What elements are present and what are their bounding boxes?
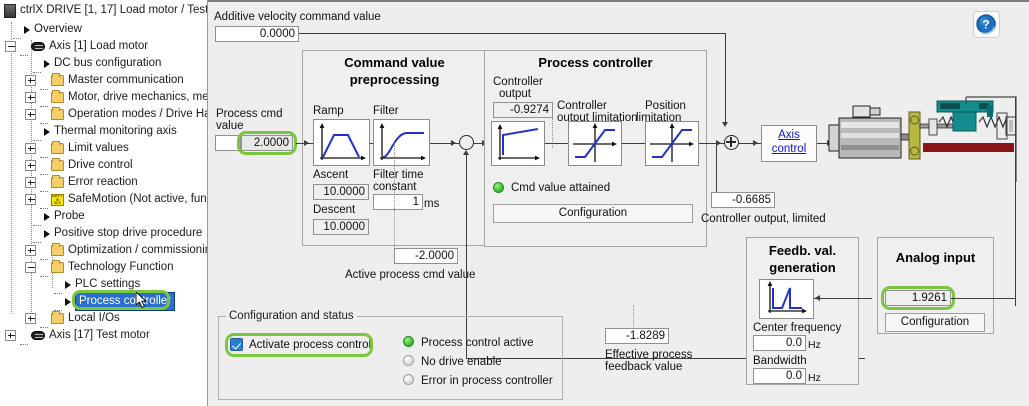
filter-curve-icon	[374, 120, 429, 165]
filter-time-label-1: Filter time	[373, 169, 423, 182]
expand-icon[interactable]	[25, 313, 36, 324]
expand-icon[interactable]	[25, 75, 36, 86]
position-limitation-block	[645, 121, 699, 166]
svg-text:?: ?	[982, 18, 989, 32]
ascent-field[interactable]: 10.0000	[313, 184, 369, 200]
filter-time-unit: ms	[424, 198, 439, 211]
axis-control-link-2[interactable]: control	[761, 143, 817, 156]
axis-control-link-1[interactable]: Axis	[761, 129, 817, 142]
sidebar-item-label: Overview	[34, 21, 82, 38]
sidebar-item-master-comm[interactable]: Master communication	[25, 72, 184, 89]
arrow-icon	[65, 298, 71, 306]
sidebar-item-axis17[interactable]: Axis [17] Test motor	[5, 327, 150, 344]
arrow-icon	[44, 213, 50, 221]
sidebar-item-motor-mechanics[interactable]: Motor, drive mechanics, measur	[25, 89, 208, 106]
active-cmd-field[interactable]: -2.0000	[394, 248, 458, 264]
folder-icon	[51, 109, 64, 120]
sidebar-item-label: PLC settings	[75, 276, 140, 293]
configuration-status-legend: Configuration and status	[226, 310, 357, 322]
ramp-curve-icon	[314, 120, 369, 165]
saturation-curve-icon	[569, 122, 621, 165]
sidebar-item-axis1[interactable]: Axis [1] Load motor	[5, 38, 148, 55]
status-label-no-drive-enable: No drive enable	[421, 356, 502, 369]
help-icon: ?	[975, 13, 998, 36]
drive-icon	[31, 42, 45, 51]
folder-icon	[51, 245, 64, 256]
tap-ctrl-out-limited	[716, 143, 717, 193]
ascent-label: Ascent	[313, 169, 348, 182]
sidebar-item-label: Limit values	[68, 140, 129, 157]
arrow-icon	[44, 230, 50, 238]
expand-icon[interactable]	[25, 177, 36, 188]
descent-label: Descent	[313, 204, 355, 217]
folder-icon	[51, 75, 64, 86]
folder-icon	[51, 262, 64, 273]
expand-icon[interactable]	[25, 160, 36, 171]
arrow-icon	[65, 281, 71, 289]
sidebar-item-technology-function[interactable]: Technology Function	[25, 259, 173, 276]
sidebar-item-local-ios[interactable]: Local I/Os	[25, 310, 120, 327]
col-limit-label-1: Controller	[557, 100, 607, 113]
status-led-no-drive-enable	[403, 355, 414, 366]
sidebar-item-label: Error reaction	[68, 174, 138, 191]
sidebar-item-label: Technology Function	[68, 259, 173, 276]
process-cmd-label-2: value	[216, 120, 244, 133]
collapse-icon[interactable]	[25, 262, 36, 273]
process-cmd-prefix-field[interactable]	[215, 135, 241, 151]
collapse-icon[interactable]	[5, 41, 16, 52]
folder-icon	[51, 143, 64, 154]
controller-output-label-1: Controller	[493, 76, 543, 89]
sidebar-item-thermal[interactable]: Thermal monitoring axis	[32, 123, 177, 140]
wire-arrow	[815, 295, 820, 301]
activate-process-control-label: Activate process control	[249, 339, 371, 352]
wire-additive-down	[725, 33, 726, 125]
expand-icon[interactable]	[25, 92, 36, 103]
sidebar-item-label: Operation modes / Drive Halt	[68, 106, 208, 123]
sidebar-item-overview[interactable]: Overview	[12, 21, 82, 38]
effective-feedback-field[interactable]: -1.8289	[605, 328, 669, 344]
filter-transfer-block	[373, 119, 430, 166]
expand-icon[interactable]	[5, 330, 16, 341]
sidebar-item-label: Axis [1] Load motor	[49, 38, 148, 55]
sidebar-item-process-controller[interactable]: Process controller	[53, 293, 175, 310]
sidebar-item-label: Axis [17] Test motor	[49, 327, 150, 344]
wire-arrow	[722, 122, 728, 127]
descent-field[interactable]: 10.0000	[313, 219, 369, 235]
sidebar-item-label: Probe	[54, 208, 85, 225]
machine-illustration	[811, 87, 1029, 187]
pc-title: Process controller	[484, 55, 707, 70]
wire-analog-to-feedb	[814, 298, 872, 299]
sidebar-item-label: Motor, drive mechanics, measur	[68, 89, 208, 106]
wire-arrow	[753, 140, 758, 146]
process-controller-diagram: ? Additive velocity command value 0.0000…	[208, 0, 1029, 406]
folder-icon	[51, 177, 64, 188]
effective-feedback-label-1: Effective process	[605, 349, 692, 362]
active-cmd-label: Active process cmd value	[345, 269, 475, 282]
expand-icon[interactable]	[25, 109, 36, 120]
controller-output-limited-field[interactable]: -0.6685	[711, 192, 775, 208]
wire-limit-to-pos	[622, 143, 645, 144]
arrow-icon	[44, 128, 50, 136]
navigation-tree[interactable]: ctrlX DRIVE [1, 17] Load motor / Test m …	[0, 0, 208, 406]
wire-pi-to-limit	[545, 143, 568, 144]
feedb-title-line2: generation	[746, 260, 859, 275]
sidebar-item-label: DC bus configuration	[54, 55, 161, 72]
summing-junction-1	[459, 135, 474, 150]
status-led-error-in-process-controller	[403, 374, 414, 385]
sidebar-item-label: Optimization / commissioning	[68, 242, 208, 259]
ramp-label: Ramp	[313, 105, 344, 118]
status-label-error-in-process-controller: Error in process controller	[421, 375, 553, 388]
sidebar-item-drive-control[interactable]: Drive control	[25, 157, 133, 174]
feedback-filter-block	[759, 279, 814, 319]
analog-title: Analog input	[877, 250, 994, 265]
ramp-transfer-block	[313, 119, 370, 166]
pos-limit-label-1: Position	[645, 100, 686, 113]
additive-velocity-label: Additive velocity command value	[214, 11, 381, 24]
additive-velocity-field[interactable]: 0.0000	[215, 26, 299, 42]
pc-configuration-button[interactable]: Configuration	[493, 204, 693, 223]
tap-active-cmd	[394, 143, 395, 249]
sidebar-item-label: SafeMotion (Not active, functior	[68, 191, 208, 208]
sidebar-item-positive-stop[interactable]: Positive stop drive procedure	[32, 225, 202, 242]
wire-additive-to-sum	[299, 33, 726, 34]
folder-icon	[51, 160, 64, 171]
saturation-curve-icon	[646, 122, 698, 165]
controller-output-limitation-block	[568, 121, 622, 166]
cmd-value-attained-label: Cmd value attained	[511, 182, 610, 195]
controller-output-limited-label: Controller output, limited	[701, 213, 826, 226]
wire-frame-to-analog	[951, 298, 1016, 299]
summing-junction-2	[724, 135, 739, 150]
feedb-title-line1: Feedb. val.	[746, 243, 859, 258]
sidebar-item-probe[interactable]: Probe	[32, 208, 85, 225]
expand-icon[interactable]	[25, 194, 36, 205]
bandwidth-unit: Hz	[808, 372, 821, 385]
sidebar-item-safemotion[interactable]: SAFETYINIDLE SafeMotion (Not active, fun…	[25, 191, 208, 208]
sidebar-item-optimization[interactable]: Optimization / commissioning	[25, 242, 208, 259]
expand-icon[interactable]	[25, 245, 36, 256]
status-led-process-control-active	[403, 336, 414, 347]
notch-filter-curve-icon	[760, 280, 813, 318]
sidebar-item-label: Local I/Os	[68, 310, 120, 327]
analog-input-field[interactable]: 1.9261	[885, 290, 951, 306]
activate-process-control-checkbox[interactable]	[230, 338, 243, 351]
folder-icon	[51, 92, 64, 103]
help-button[interactable]: ?	[973, 11, 1000, 38]
drive-root-icon	[4, 4, 16, 18]
filter-label: Filter	[373, 105, 399, 118]
sidebar-item-operation-modes[interactable]: Operation modes / Drive Halt	[25, 106, 208, 123]
arrow-icon	[24, 26, 30, 34]
arrow-icon	[44, 60, 50, 68]
controller-output-label-2: output	[499, 88, 531, 101]
drive-icon	[31, 331, 45, 340]
status-label-process-control-active: Process control active	[421, 337, 534, 350]
folder-icon	[51, 313, 64, 324]
tree-root[interactable]: ctrlX DRIVE [1, 17] Load motor / Test m	[4, 2, 208, 19]
pi-curve-icon	[492, 122, 544, 165]
center-frequency-unit: Hz	[808, 339, 821, 352]
bandwidth-label: Bandwidth	[753, 355, 807, 368]
cvp-title-line2: preprocessing	[302, 72, 487, 87]
application-window: ctrlX DRIVE [1, 17] Load motor / Test m …	[0, 0, 1029, 406]
center-frequency-label: Center frequency	[753, 322, 841, 335]
sidebar-item-plc-settings[interactable]: PLC settings	[53, 276, 140, 293]
sidebar-item-label: Master communication	[68, 72, 184, 89]
filter-time-field[interactable]: 1	[373, 194, 423, 210]
cvp-title-line1: Command value	[302, 55, 487, 70]
cmd-value-attained-led	[493, 182, 504, 193]
controller-output-field[interactable]: -0.9274	[493, 102, 553, 118]
analog-configuration-button[interactable]: Configuration	[885, 313, 985, 332]
effective-feedback-label-2: feedback value	[605, 361, 682, 374]
sidebar-item-error-reaction[interactable]: Error reaction	[25, 174, 138, 191]
tap-effective-feedback	[633, 305, 634, 329]
expand-icon[interactable]	[25, 143, 36, 154]
sidebar-item-label: Drive control	[68, 157, 133, 174]
safemotion-icon: SAFETYINIDLE	[51, 194, 64, 206]
wire-arrow	[304, 140, 309, 146]
sidebar-item-dc-bus[interactable]: DC bus configuration	[32, 55, 161, 72]
pi-controller-block	[491, 121, 545, 166]
sidebar-item-label: Thermal monitoring axis	[54, 123, 177, 140]
process-cmd-label-1: Process cmd	[216, 108, 282, 121]
frame-wire-right	[1015, 97, 1016, 306]
sidebar-item-label: Process controller	[75, 292, 175, 311]
sidebar-item-limit-values[interactable]: Limit values	[25, 140, 129, 157]
sidebar-item-label: Positive stop drive procedure	[54, 225, 202, 242]
tree-root-label: ctrlX DRIVE [1, 17] Load motor / Test m	[20, 2, 208, 19]
process-cmd-value-field[interactable]: 2.0000	[241, 135, 293, 151]
bandwidth-field[interactable]: 0.0	[753, 368, 806, 384]
wire-arrow	[451, 140, 456, 146]
center-frequency-field[interactable]: 0.0	[753, 335, 806, 351]
